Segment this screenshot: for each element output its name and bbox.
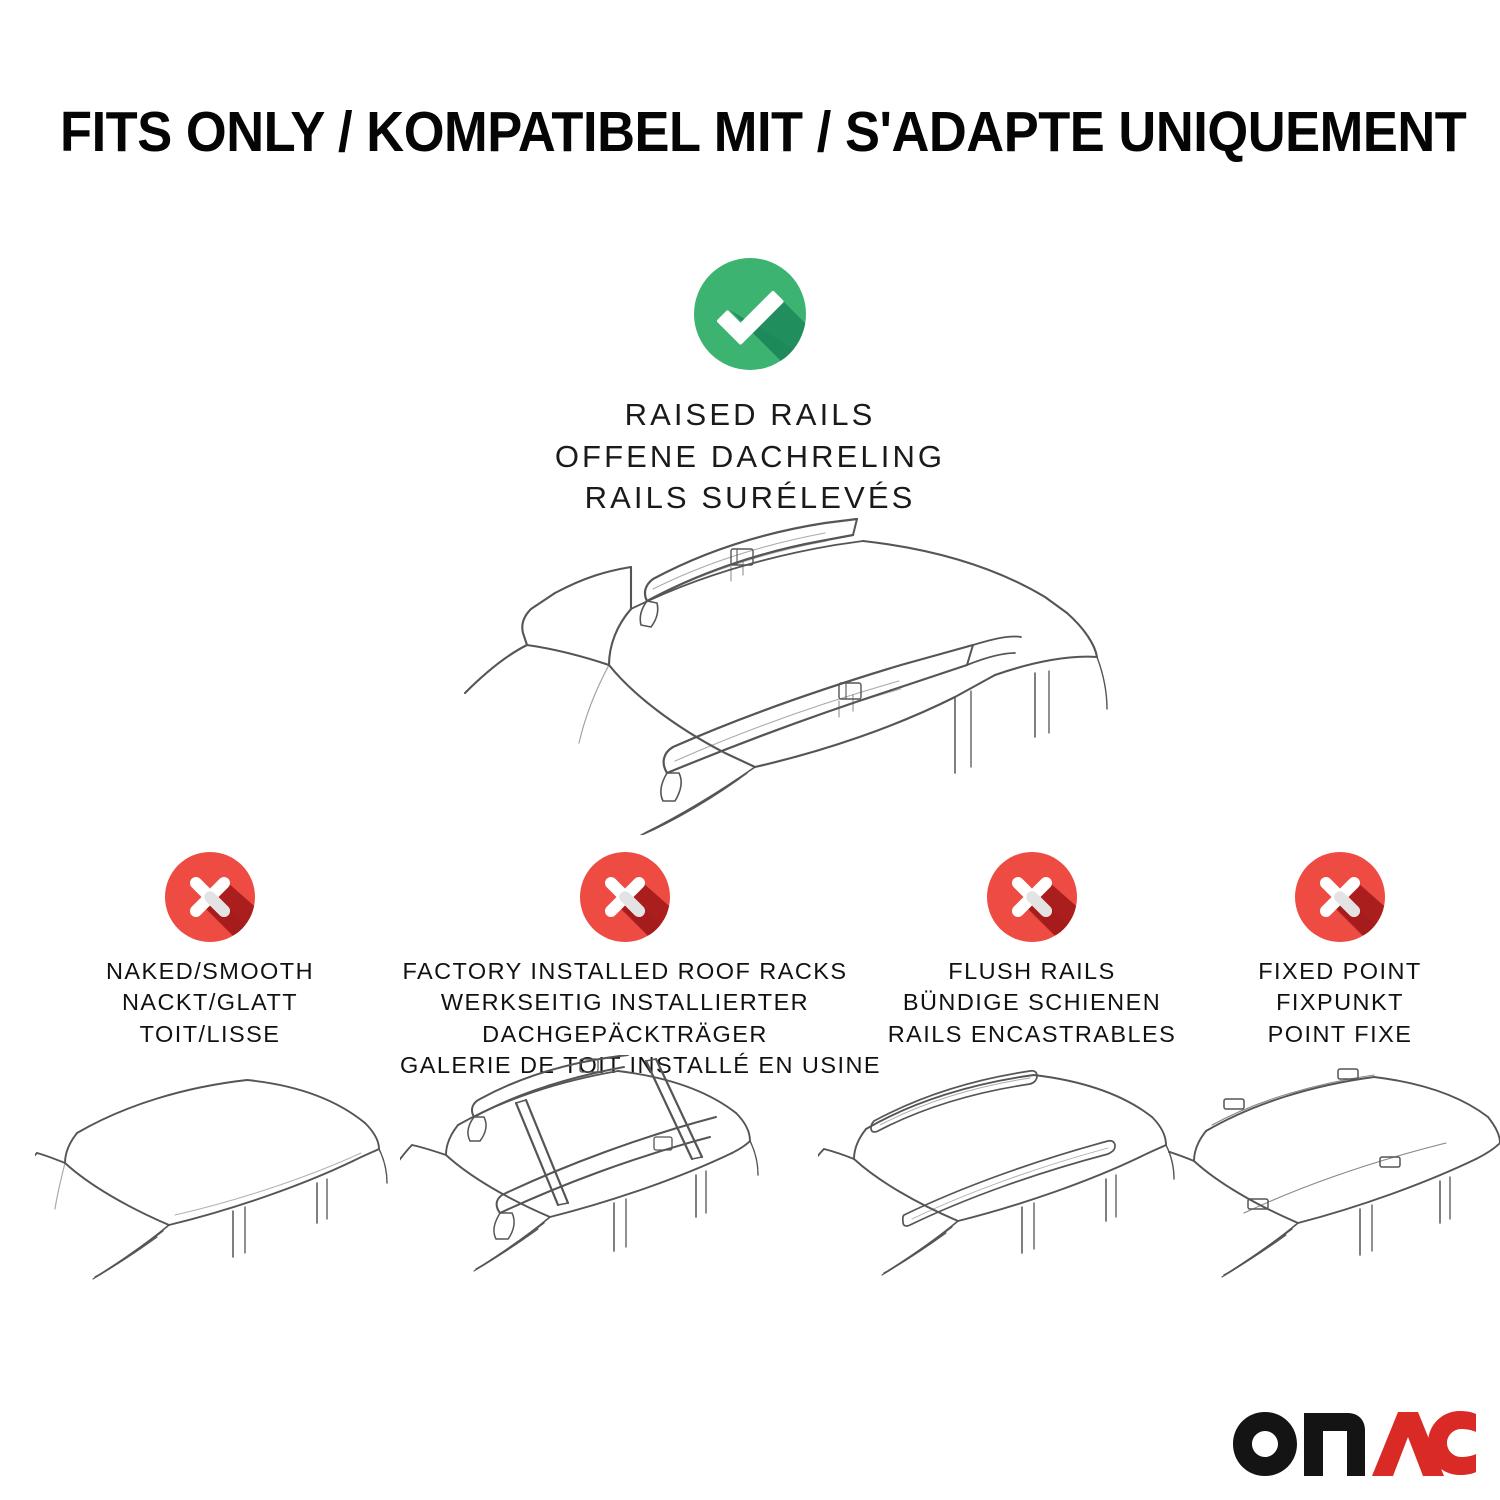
omac-logo-mark	[1232, 1410, 1477, 1476]
incompatible-labels: FLUSH RAILS BÜNDIGE SCHIENEN RAILS ENCAS…	[872, 956, 1192, 1050]
cross-badge	[1295, 852, 1385, 942]
incompatible-label-de-1: WERKSEITIG INSTALLIERTER	[400, 987, 850, 1018]
car-roof-factory-racks-sketch	[400, 1055, 800, 1290]
incompatible-label-de-2: DACHGEPÄCKTRÄGER	[400, 1019, 850, 1050]
incompatible-label-fr: POINT FIXE	[1212, 1019, 1468, 1050]
compatible-labels: RAISED RAILS OFFENE DACHRELING RAILS SUR…	[0, 394, 1500, 519]
incompatible-label-en: FIXED POINT	[1212, 956, 1468, 987]
raised-rails-illustration	[395, 505, 1135, 835]
incompatible-label-fr: RAILS ENCASTRABLES	[872, 1019, 1192, 1050]
incompatible-label-de: FIXPUNKT	[1212, 987, 1468, 1018]
compatible-label-en: RAISED RAILS	[0, 394, 1500, 436]
incompatible-label-en: NAKED/SMOOTH	[55, 956, 365, 987]
check-badge	[694, 258, 806, 370]
incompatible-label-fr: TOIT/LISSE	[55, 1019, 365, 1050]
incompatible-item-flush-rails: FLUSH RAILS BÜNDIGE SCHIENEN RAILS ENCAS…	[872, 852, 1192, 1050]
cross-circle-icon	[1295, 852, 1385, 942]
compatible-label-de: OFFENE DACHRELING	[0, 436, 1500, 478]
check-circle-icon	[694, 258, 806, 370]
incompatible-label-en: FACTORY INSTALLED ROOF RACKS	[400, 956, 850, 987]
compatible-section: RAISED RAILS OFFENE DACHRELING RAILS SUR…	[0, 258, 1500, 519]
logo-letter-o	[1233, 1412, 1297, 1476]
omac-logo	[1232, 1410, 1477, 1476]
fixed-point-illustration	[1168, 1055, 1500, 1290]
cross-badge	[580, 852, 670, 942]
cross-circle-icon	[987, 852, 1077, 942]
page-title: FITS ONLY / KOMPATIBEL MIT / S'ADAPTE UN…	[60, 103, 1440, 163]
car-roof-flush-rails-sketch	[818, 1055, 1203, 1290]
car-roof-naked-smooth-sketch	[35, 1055, 420, 1290]
car-roof-raised-rails-sketch	[395, 505, 1135, 835]
incompatible-label-de: NACKT/GLATT	[55, 987, 365, 1018]
car-roof-fixed-point-sketch	[1168, 1055, 1500, 1290]
flush-rails-illustration	[818, 1055, 1203, 1290]
incompatible-illustrations	[0, 1055, 1500, 1295]
incompatible-labels: FIXED POINT FIXPUNKT POINT FIXE	[1212, 956, 1468, 1050]
incompatible-label-de: BÜNDIGE SCHIENEN	[872, 987, 1192, 1018]
cross-badge	[987, 852, 1077, 942]
incompatible-item-naked-smooth: NAKED/SMOOTH NACKT/GLATT TOIT/LISSE	[55, 852, 365, 1050]
logo-letter-m	[1304, 1413, 1365, 1476]
cross-circle-icon	[165, 852, 255, 942]
incompatible-item-factory-racks: FACTORY INSTALLED ROOF RACKS WERKSEITIG …	[400, 852, 850, 1082]
cross-badge	[165, 852, 255, 942]
incompatible-label-en: FLUSH RAILS	[872, 956, 1192, 987]
naked-smooth-illustration	[35, 1055, 420, 1290]
cross-circle-icon	[580, 852, 670, 942]
incompatible-labels: NAKED/SMOOTH NACKT/GLATT TOIT/LISSE	[55, 956, 365, 1050]
incompatible-item-fixed-point: FIXED POINT FIXPUNKT POINT FIXE	[1212, 852, 1468, 1050]
factory-racks-illustration	[400, 1055, 800, 1290]
